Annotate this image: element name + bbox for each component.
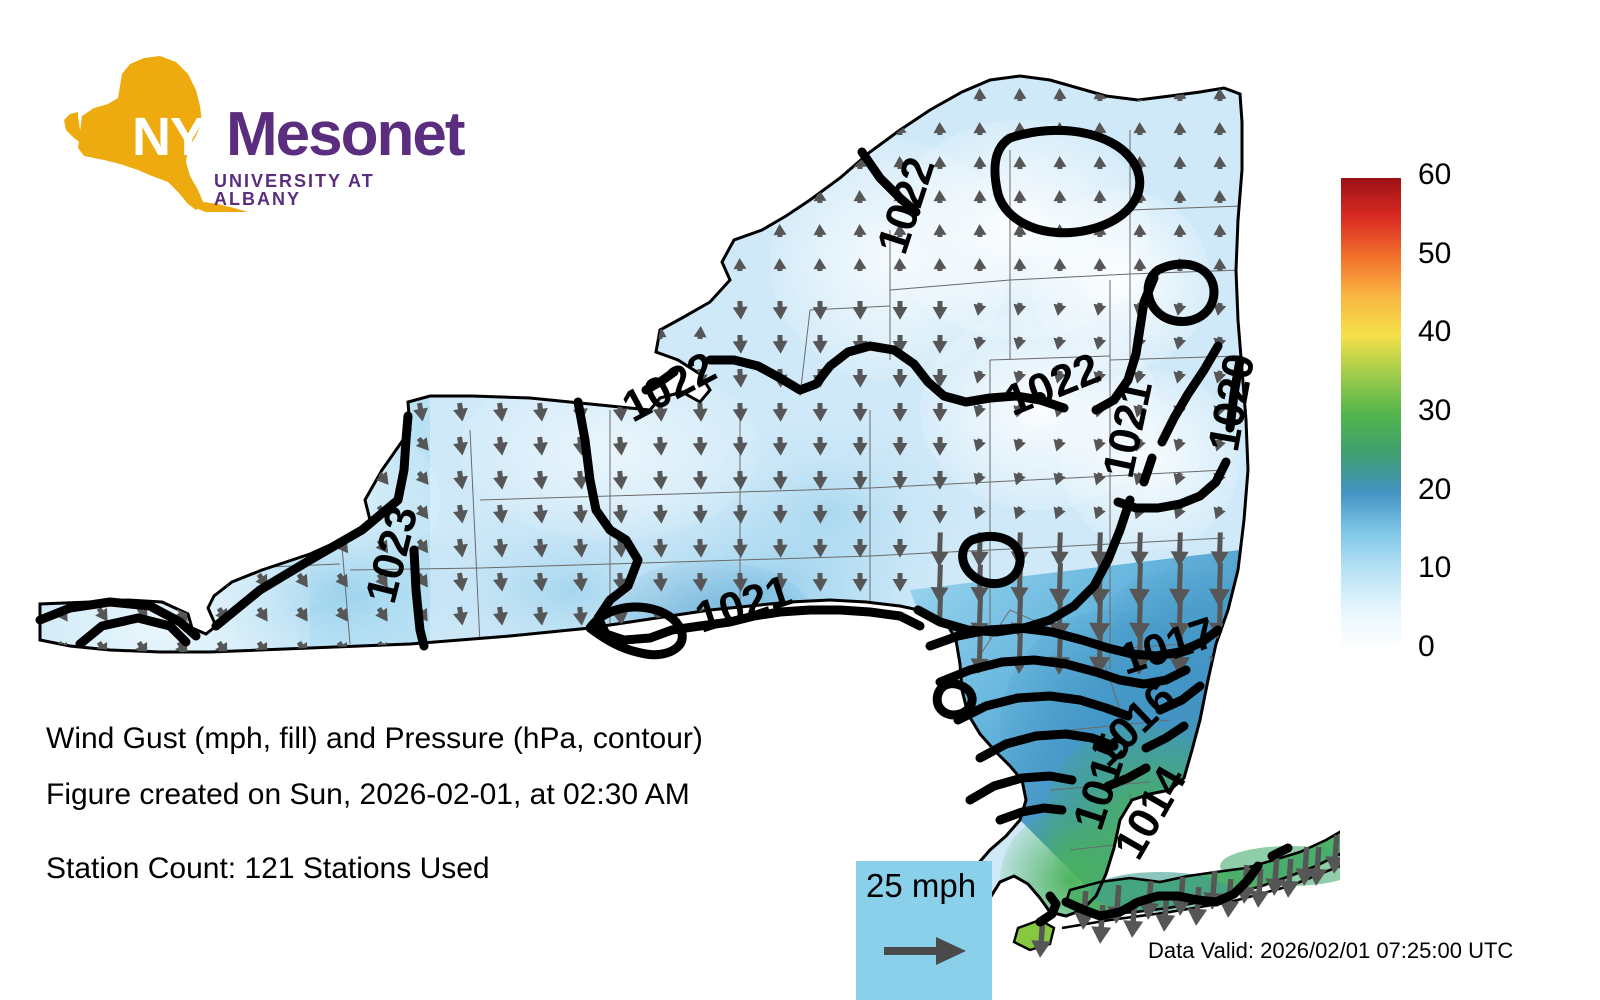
wind-vector	[171, 257, 186, 272]
wind-vector	[252, 291, 267, 306]
wind-vector	[533, 190, 546, 203]
wind-vector	[173, 536, 194, 557]
wind-vector	[173, 468, 194, 489]
wind-vector	[131, 223, 147, 239]
wind-vector	[253, 434, 274, 455]
wind-vector	[213, 468, 234, 489]
wind-vector	[533, 88, 546, 101]
wind-vector	[51, 257, 67, 273]
wind-vector	[332, 291, 347, 306]
wind-vector	[332, 368, 350, 389]
wind-vector	[853, 88, 866, 101]
nys-mesonet-logo: NYS Mesonet UNIVERSITY AT ALBANY	[48, 52, 393, 212]
wind-vector	[413, 189, 427, 203]
wind-vector	[573, 190, 586, 203]
wind-vector	[693, 190, 707, 204]
logo-nys-text: NYS	[132, 110, 240, 164]
colorbar-tick-40: 40	[1418, 317, 1451, 347]
wind-vector	[573, 122, 586, 135]
wind-vector	[132, 367, 151, 389]
colorbar-tick-10: 10	[1418, 553, 1451, 583]
wind-vector	[653, 122, 667, 136]
wind-vector	[573, 156, 586, 169]
wind-vector	[693, 258, 707, 272]
wind-vector	[653, 156, 667, 170]
wind-reference-legend[interactable]: 25 mph	[856, 861, 992, 1000]
wind-vector	[772, 641, 788, 660]
wind-vector	[252, 401, 271, 423]
figure-title-line: Wind Gust (mph, fill) and Pressure (hPa,…	[46, 722, 703, 756]
wind-vector	[211, 223, 226, 238]
wind-vector	[493, 122, 507, 136]
wind-vector	[332, 325, 347, 340]
wind-vector	[292, 325, 307, 340]
colorbar[interactable]	[1341, 178, 1401, 650]
wind-legend-label: 25 mph	[866, 867, 976, 905]
wind-vector	[573, 224, 586, 237]
wind-vector	[493, 156, 507, 170]
wind-vector	[372, 257, 386, 271]
wind-vector	[492, 640, 510, 661]
wind-vector	[133, 536, 154, 557]
wind-vector	[533, 224, 546, 237]
wind-vector	[573, 258, 586, 271]
wind-vector	[131, 325, 147, 341]
wind-vector	[493, 190, 507, 204]
station-count-line: Station Count: 121 Stations Used	[46, 852, 490, 886]
wind-vector	[293, 468, 314, 489]
wind-vector	[573, 326, 586, 339]
wind-vector	[813, 88, 826, 101]
wind-vector	[453, 224, 467, 238]
wind-vector	[852, 641, 867, 660]
wind-vector	[171, 223, 186, 238]
wind-vector	[91, 223, 107, 239]
wind-vector	[292, 257, 307, 272]
wind-vector	[171, 325, 186, 340]
wind-vector	[173, 570, 194, 591]
wind-vector	[131, 257, 147, 273]
wind-vector	[93, 468, 114, 489]
logo-mesonet-text: Mesonet	[226, 104, 463, 166]
wind-vector	[773, 88, 786, 101]
wind-vector	[493, 224, 507, 238]
wind-vector	[533, 292, 546, 305]
wind-vector	[813, 122, 826, 135]
wind-vector	[252, 223, 267, 238]
wind-vector	[131, 291, 147, 307]
wind-vector	[413, 325, 427, 339]
wind-vector	[693, 156, 707, 170]
wind-vector	[653, 258, 667, 272]
wind-vector	[211, 325, 226, 340]
wind-vector	[453, 258, 467, 272]
wind-vector	[533, 258, 546, 271]
wind-vector	[413, 223, 427, 237]
wind-vector	[53, 570, 74, 591]
wind-vector	[853, 122, 866, 135]
wind-vector	[53, 434, 74, 455]
wind-vector	[732, 641, 748, 661]
wind-vector	[91, 291, 107, 307]
wind-vector	[211, 257, 226, 272]
wind-vector	[332, 223, 347, 238]
wind-vector	[613, 292, 626, 305]
wind-vector	[493, 326, 507, 340]
wind-vector	[493, 88, 507, 102]
wind-vector	[213, 502, 234, 523]
wind-vector	[573, 88, 586, 101]
wind-vector	[812, 641, 828, 660]
wind-vector	[333, 502, 354, 523]
wind-vector	[292, 291, 307, 306]
wind-vector	[93, 502, 114, 523]
wind-vector	[573, 292, 586, 305]
wind-vector	[893, 88, 906, 101]
wind-vector	[92, 367, 112, 389]
wind-vector	[173, 434, 194, 455]
wind-vector	[493, 292, 507, 306]
wind-vector	[51, 223, 67, 239]
colorbar-tick-60: 60	[1418, 160, 1451, 190]
wind-vector	[91, 325, 107, 341]
wind-vector	[453, 190, 467, 204]
wind-vector	[211, 291, 226, 306]
wind-vector	[693, 224, 707, 238]
wind-vector	[293, 502, 314, 523]
wind-vector	[91, 257, 107, 273]
wind-vector	[213, 536, 234, 557]
wind-vector	[413, 257, 427, 271]
wind-vector	[492, 368, 510, 389]
wind-vector	[613, 258, 626, 271]
wind-vector	[173, 502, 194, 523]
wind-vector	[733, 190, 746, 203]
wind-vector	[171, 291, 186, 306]
wind-vector	[293, 434, 314, 455]
wind-vector	[412, 368, 430, 389]
wind-vector	[333, 468, 354, 489]
wind-vector	[253, 502, 274, 523]
wind-vector	[292, 223, 307, 238]
wind-vector	[733, 88, 746, 101]
wind-vector	[333, 434, 354, 455]
wind-vector	[613, 224, 626, 237]
wind-vector	[613, 122, 626, 135]
colorbar-tick-50: 50	[1418, 239, 1451, 269]
wind-vector	[93, 570, 114, 591]
wind-vector	[773, 156, 786, 169]
wind-vector	[332, 402, 350, 423]
wind-vector	[533, 122, 546, 135]
wind-vector	[212, 401, 231, 423]
wind-vector	[93, 536, 114, 557]
wind-vector	[51, 291, 67, 307]
logo-subtitle: UNIVERSITY AT ALBANY	[214, 172, 393, 208]
data-valid-line: Data Valid: 2026/02/01 07:25:00 UTC	[1148, 938, 1513, 964]
wind-vector	[51, 325, 67, 341]
wind-vector	[733, 122, 746, 135]
wind-vector	[372, 402, 390, 423]
wind-vector	[413, 291, 427, 305]
wind-vector	[613, 156, 626, 169]
wind-vector	[773, 122, 786, 135]
colorbar-tick-0: 0	[1418, 632, 1435, 662]
wind-vector	[533, 156, 546, 169]
wind-vector	[452, 640, 470, 661]
wind-vector	[133, 502, 154, 523]
wind-vector	[292, 367, 311, 388]
wind-vector	[172, 367, 191, 389]
wind-vector	[653, 190, 667, 204]
wind-vector	[493, 258, 507, 272]
wind-vector	[92, 401, 112, 423]
wind-vector	[892, 641, 907, 660]
wind-vector	[133, 570, 154, 591]
wind-vector	[653, 224, 667, 238]
wind-vector	[653, 88, 667, 102]
wind-vector	[372, 368, 390, 389]
wind-vector	[372, 223, 386, 237]
wind-vector	[933, 88, 946, 101]
wind-vector	[653, 292, 667, 306]
wind-vector	[572, 368, 589, 388]
colorbar-gradient	[1341, 178, 1401, 650]
wind-vector	[373, 434, 394, 455]
wind-vector	[372, 291, 386, 305]
figure-canvas: 1022102210221023102110211020101710161015…	[0, 0, 1600, 1000]
wind-vector	[52, 401, 72, 423]
wind-vector	[252, 325, 267, 340]
wind-vector	[733, 156, 746, 169]
wind-vector	[572, 640, 589, 660]
wind-vector	[52, 367, 72, 389]
wind-vector	[332, 257, 347, 272]
wind-vector	[253, 536, 274, 557]
wind-vector	[692, 640, 708, 660]
wind-reference-arrow-icon	[884, 931, 968, 971]
wind-vector	[813, 156, 826, 169]
wind-vector	[452, 368, 470, 389]
colorbar-tick-30: 30	[1418, 396, 1451, 426]
wind-vector	[613, 326, 626, 339]
wind-vector	[252, 257, 267, 272]
wind-vector	[693, 122, 707, 136]
wind-vector	[292, 401, 311, 422]
wind-vector	[93, 434, 114, 455]
wind-vector	[172, 401, 191, 423]
wind-vector	[693, 88, 707, 102]
wind-vector	[453, 326, 467, 340]
wind-vector	[253, 468, 274, 489]
wind-vector	[133, 434, 154, 455]
station-marker	[1034, 392, 1046, 404]
wind-vector	[532, 640, 549, 661]
wind-vector	[252, 367, 271, 389]
figure-created-line: Figure created on Sun, 2026-02-01, at 02…	[46, 778, 690, 812]
wind-vector	[613, 190, 626, 203]
wind-vector	[533, 326, 546, 339]
wind-vector	[532, 368, 549, 389]
wind-vector	[372, 325, 386, 339]
wind-vector	[212, 367, 231, 389]
wind-vector	[132, 401, 151, 423]
wind-vector	[53, 502, 74, 523]
wind-vector	[613, 88, 626, 101]
wind-vector	[773, 190, 786, 203]
colorbar-tick-20: 20	[1418, 475, 1451, 505]
wind-vector	[133, 468, 154, 489]
wind-vector	[53, 468, 74, 489]
wind-vector	[213, 434, 234, 455]
wind-vector	[53, 536, 74, 557]
wind-vector	[453, 292, 467, 306]
